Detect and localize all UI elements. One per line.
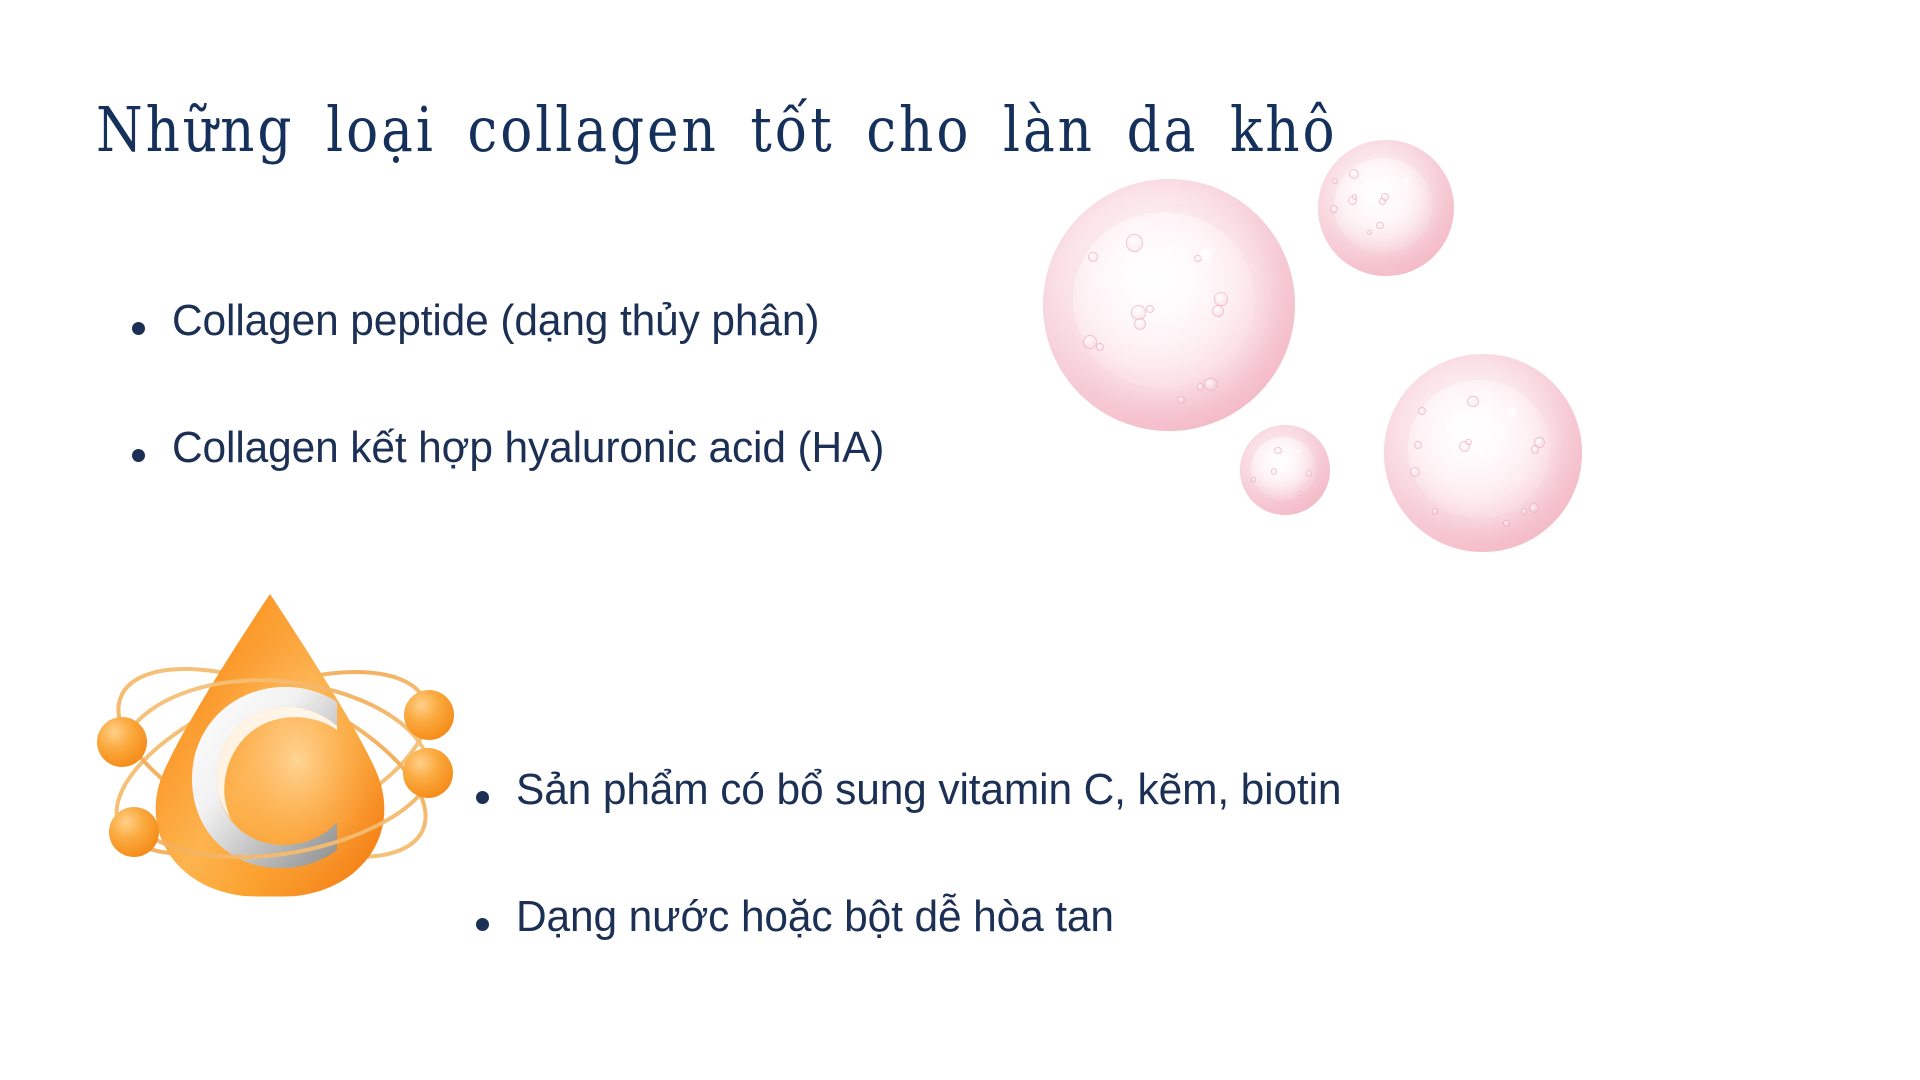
pink-bubble-top-right-icon bbox=[1318, 140, 1454, 276]
bubble-micro-dot bbox=[1379, 198, 1386, 205]
bubble-micro-dot bbox=[1297, 491, 1303, 497]
bubble-micro-dot bbox=[1503, 520, 1510, 527]
bubble-micro-dot bbox=[1367, 230, 1372, 235]
bubble-micro-dot bbox=[1376, 222, 1383, 229]
bullet-dot-icon bbox=[476, 791, 489, 804]
list-item: Dạng nước hoặc bột dễ hòa tan bbox=[476, 892, 1371, 941]
bubble-micro-dot bbox=[1332, 178, 1338, 184]
bubble-micro-dot bbox=[1465, 439, 1471, 445]
bubble-micro-dot bbox=[1194, 255, 1202, 263]
bubble-micro-dot bbox=[1531, 445, 1540, 454]
bubble-micro-dot bbox=[1467, 396, 1479, 408]
page-title: Những loại collagen tốt cho làn da khô bbox=[96, 97, 1338, 162]
bubble-micro-dot bbox=[1271, 468, 1278, 475]
bubble-micro-dot bbox=[1306, 470, 1313, 477]
bubble-micro-dot bbox=[1529, 503, 1540, 514]
bubble-micro-dot bbox=[1410, 467, 1420, 477]
bullet-dot-icon bbox=[132, 449, 145, 462]
bullet-text: Collagen kết hợp hyaluronic acid (HA) bbox=[172, 423, 884, 472]
bullet-dot-icon bbox=[476, 918, 489, 931]
slide-canvas: Những loại collagen tốt cho làn da khô C… bbox=[0, 0, 1920, 1080]
bullet-dot-icon bbox=[132, 322, 145, 335]
bubble-micro-dot bbox=[1126, 234, 1143, 251]
bubble-micro-dot bbox=[1134, 318, 1146, 330]
bubble-micro-dot bbox=[1330, 205, 1338, 213]
list-item: Collagen kết hợp hyaluronic acid (HA) bbox=[132, 423, 910, 472]
bubble-micro-dot bbox=[1349, 169, 1359, 179]
bubble-micro-dot bbox=[1197, 383, 1205, 391]
bubble-micro-dot bbox=[1418, 407, 1426, 415]
bubble-micro-dot bbox=[1414, 441, 1422, 449]
atom-node bbox=[403, 748, 453, 798]
bullet-list-lower: Sản phẩm có bổ sung vitamin C, kẽm, biot… bbox=[476, 765, 1371, 942]
bubble-micro-dot bbox=[1251, 477, 1257, 483]
bubble-micro-dot bbox=[1177, 396, 1185, 404]
bubble-micro-dot bbox=[1432, 508, 1439, 515]
bubble-micro-dot bbox=[1088, 252, 1098, 262]
bubble-micro-dot bbox=[1214, 292, 1227, 305]
atom-node bbox=[404, 690, 454, 740]
list-item: Sản phẩm có bổ sung vitamin C, kẽm, biot… bbox=[476, 765, 1371, 814]
bubble-micro-dot bbox=[1096, 343, 1104, 351]
bullet-list-upper: Collagen peptide (dạng thủy phân) Collag… bbox=[132, 296, 910, 473]
pink-bubble-right-icon bbox=[1384, 354, 1582, 552]
bubble-micro-dot bbox=[1204, 378, 1217, 391]
list-item: Collagen peptide (dạng thủy phân) bbox=[132, 296, 910, 345]
bullet-text: Sản phẩm có bổ sung vitamin C, kẽm, biot… bbox=[516, 765, 1341, 814]
bubble-micro-dot bbox=[1146, 305, 1154, 313]
vitamin-c-droplet-icon bbox=[84, 566, 454, 906]
bullet-text: Collagen peptide (dạng thủy phân) bbox=[172, 296, 819, 345]
pink-bubble-small-icon bbox=[1240, 425, 1330, 515]
atom-node bbox=[97, 717, 147, 767]
bubble-micro-dot bbox=[1521, 508, 1527, 514]
bullet-text: Dạng nước hoặc bột dễ hòa tan bbox=[516, 892, 1114, 941]
atom-node bbox=[109, 807, 159, 857]
bubble-micro-dot bbox=[1212, 305, 1224, 317]
bubble-micro-dot bbox=[1083, 335, 1096, 348]
bubble-micro-dot bbox=[1274, 447, 1281, 454]
pink-bubble-large-icon bbox=[1043, 179, 1295, 431]
